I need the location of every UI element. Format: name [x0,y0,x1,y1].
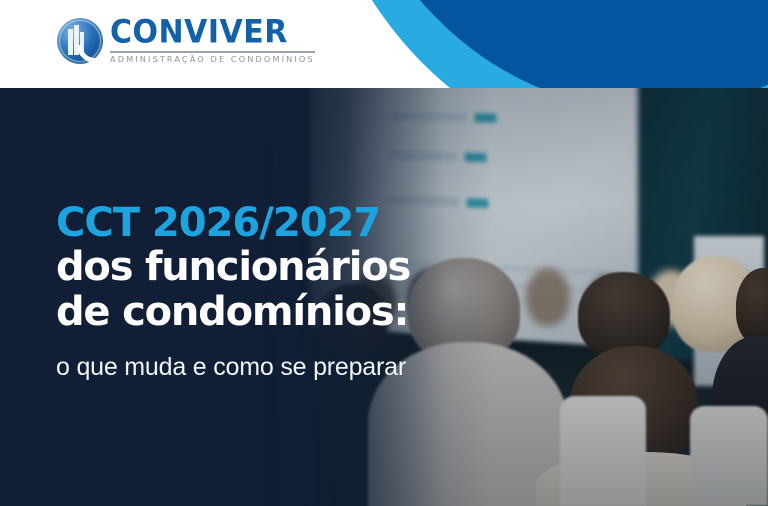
headline-line-3: de condomínios: [56,290,696,335]
headline-accent: CCT 2026/2027 [56,202,696,245]
subheadline: o que muda e como se preparar [56,353,696,382]
promotional-banner: CCT 2026/2027 dos funcionários de condom… [0,0,768,506]
headline-line-2: dos funcionários [56,245,696,290]
hero-copy: CCT 2026/2027 dos funcionários de condom… [56,202,696,382]
